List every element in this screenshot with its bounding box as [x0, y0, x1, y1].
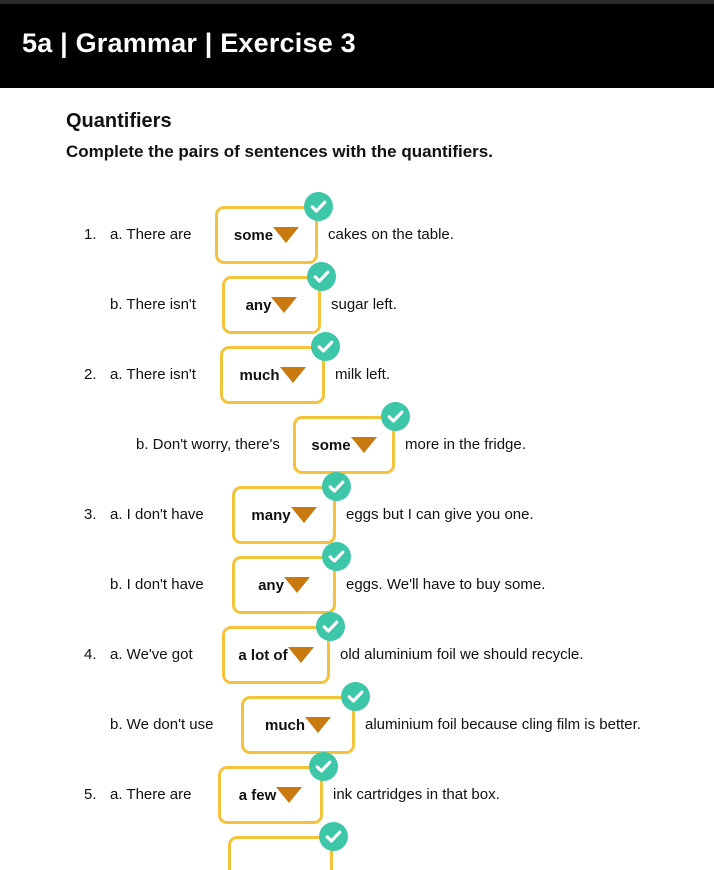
- dropdown-value: any: [246, 297, 272, 314]
- exercise-row: b. Don't worry, there'ssomemore in the f…: [0, 408, 714, 488]
- header-bar: 5a | Grammar | Exercise 3: [0, 4, 714, 88]
- sentence-suffix: old aluminium foil we should recycle.: [340, 646, 583, 663]
- sentence-suffix: eggs. We'll have to buy some.: [346, 576, 545, 593]
- sentence-prefix: b. There isn't: [110, 296, 196, 313]
- sentence-prefix: a. There are: [110, 786, 191, 803]
- check-circle-icon: [322, 472, 351, 501]
- section-instruction: Complete the pairs of sentences with the…: [66, 142, 493, 162]
- quantifier-dropdown[interactable]: any: [232, 556, 336, 614]
- chevron-down-icon[interactable]: [280, 367, 306, 383]
- check-circle-icon: [316, 612, 345, 641]
- check-circle-icon: [307, 262, 336, 291]
- check-circle-icon: [381, 402, 410, 431]
- check-circle-icon: [309, 752, 338, 781]
- sentence-suffix: eggs but I can give you one.: [346, 506, 534, 523]
- dropdown-value: any: [258, 577, 284, 594]
- sentence-prefix: a. I don't have: [110, 506, 204, 523]
- exercise-row: 5.a. There area fewink cartridges in tha…: [0, 758, 714, 838]
- exercise-row: [0, 828, 714, 870]
- sentence-prefix: b. I don't have: [110, 576, 204, 593]
- section-title: Quantifiers: [66, 110, 172, 133]
- dropdown-value: many: [251, 507, 290, 524]
- sentence-suffix: cakes on the table.: [328, 226, 454, 243]
- sentence-suffix: more in the fridge.: [405, 436, 526, 453]
- chevron-down-icon[interactable]: [276, 787, 302, 803]
- exercise-row: b. There isn'tanysugar left.: [0, 268, 714, 348]
- check-circle-icon: [311, 332, 340, 361]
- exercise-row: b. We don't usemuchaluminium foil becaus…: [0, 688, 714, 768]
- chevron-down-icon[interactable]: [291, 507, 317, 523]
- sentence-prefix: a. We've got: [110, 646, 193, 663]
- check-circle-icon: [304, 192, 333, 221]
- page-title: 5a | Grammar | Exercise 3: [22, 28, 356, 59]
- sentence-prefix: b. We don't use: [110, 716, 213, 733]
- quantifier-dropdown[interactable]: [228, 836, 333, 870]
- row-number: 5.: [84, 786, 104, 803]
- quantifier-dropdown[interactable]: much: [220, 346, 325, 404]
- quantifier-dropdown[interactable]: a few: [218, 766, 323, 824]
- quantifier-dropdown[interactable]: many: [232, 486, 336, 544]
- sentence-suffix: milk left.: [335, 366, 390, 383]
- row-number: 1.: [84, 226, 104, 243]
- chevron-down-icon[interactable]: [351, 437, 377, 453]
- quantifier-dropdown[interactable]: much: [241, 696, 355, 754]
- sentence-prefix: a. There isn't: [110, 366, 196, 383]
- chevron-down-icon[interactable]: [288, 647, 314, 663]
- exercise-row: 1.a. There aresomecakes on the table.: [0, 198, 714, 278]
- quantifier-dropdown[interactable]: a lot of: [222, 626, 330, 684]
- dropdown-value: a lot of: [238, 647, 287, 664]
- exercise-row: 3.a. I don't havemanyeggs but I can give…: [0, 478, 714, 558]
- check-circle-icon: [341, 682, 370, 711]
- dropdown-value: much: [239, 367, 279, 384]
- row-number: 4.: [84, 646, 104, 663]
- chevron-down-icon[interactable]: [305, 717, 331, 733]
- chevron-down-icon[interactable]: [271, 297, 297, 313]
- dropdown-value: much: [265, 717, 305, 734]
- check-circle-icon: [319, 822, 348, 851]
- sentence-prefix: a. There are: [110, 226, 191, 243]
- dropdown-value: some: [234, 227, 273, 244]
- exercise-row: b. I don't haveanyeggs. We'll have to bu…: [0, 548, 714, 628]
- check-circle-icon: [322, 542, 351, 571]
- row-number: 2.: [84, 366, 104, 383]
- sentence-suffix: ink cartridges in that box.: [333, 786, 500, 803]
- quantifier-dropdown[interactable]: some: [215, 206, 318, 264]
- sentence-suffix: sugar left.: [331, 296, 397, 313]
- sentence-suffix: aluminium foil because cling film is bet…: [365, 716, 641, 733]
- row-number: 3.: [84, 506, 104, 523]
- dropdown-value: some: [311, 437, 350, 454]
- dropdown-value: a few: [239, 787, 277, 804]
- sentence-prefix: b. Don't worry, there's: [136, 436, 280, 453]
- exercise-content: Quantifiers Complete the pairs of senten…: [0, 88, 714, 870]
- chevron-down-icon[interactable]: [284, 577, 310, 593]
- exercise-row: 2.a. There isn'tmuchmilk left.: [0, 338, 714, 418]
- quantifier-dropdown[interactable]: some: [293, 416, 395, 474]
- chevron-down-icon[interactable]: [273, 227, 299, 243]
